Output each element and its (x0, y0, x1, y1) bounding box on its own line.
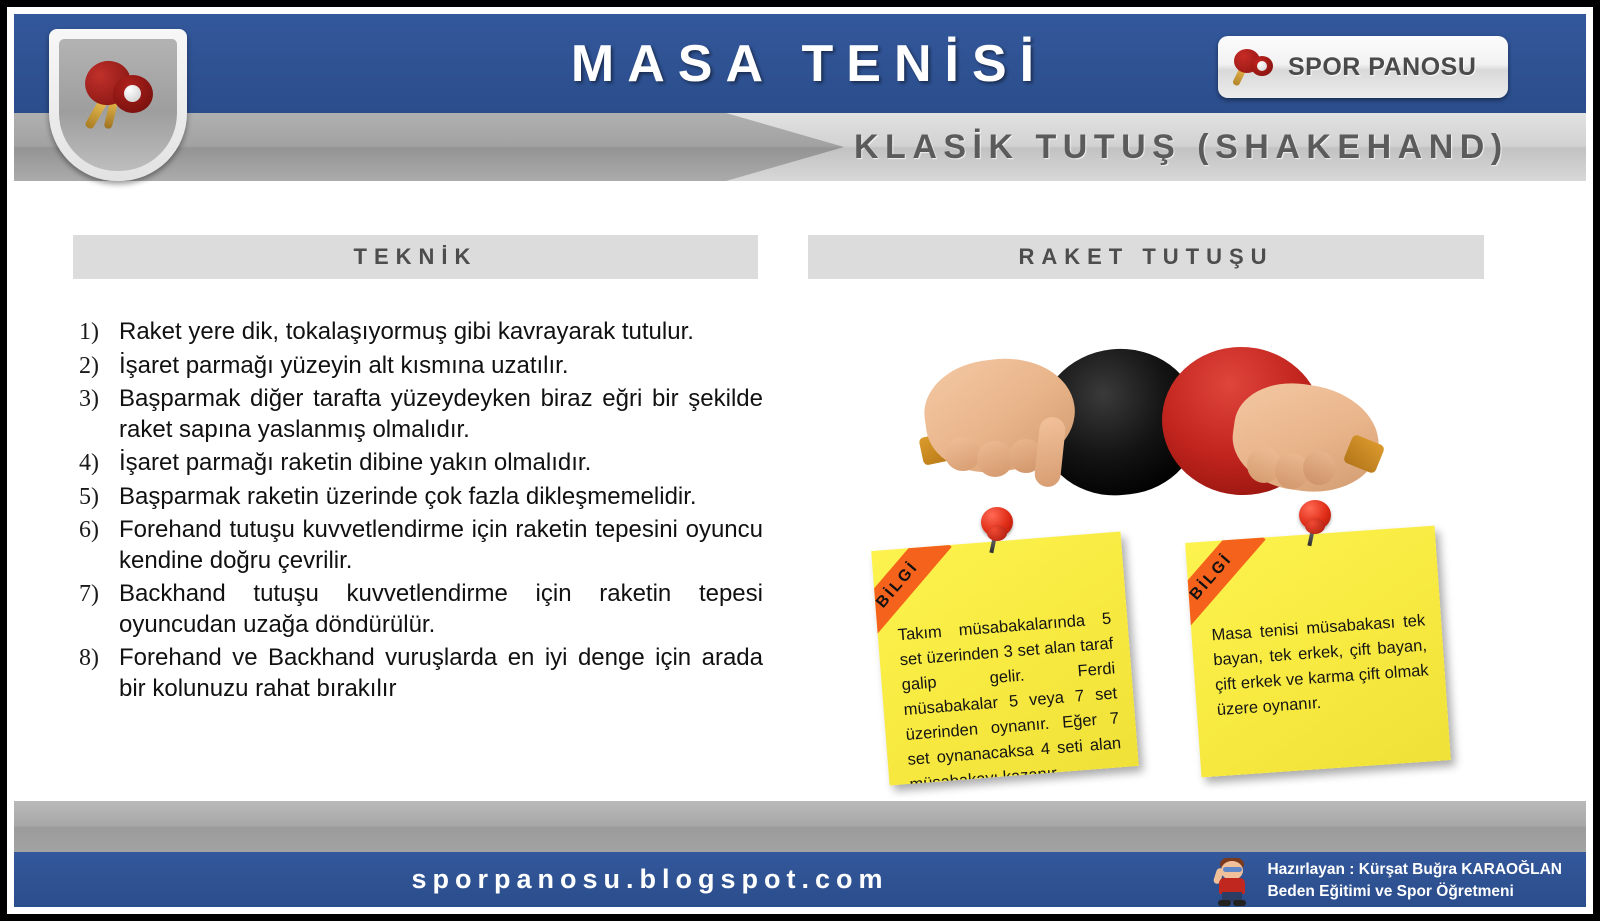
teacher-mascot-icon (1211, 856, 1255, 906)
list-item-text: Forehand ve Backhand vuruşlarda en iyi d… (119, 643, 763, 704)
table-tennis-paddle-icon (1234, 47, 1278, 87)
badge-label: SPOR PANOSU (1288, 53, 1476, 82)
note-text: Takım müsabakalarında 5 set üzerinden 3 … (897, 607, 1124, 786)
credits-block: Hazırlayan : Kürşat Buğra KARAOĞLAN Bede… (1211, 856, 1562, 906)
list-item-number: 3) (73, 384, 119, 445)
list-item-number: 2) (73, 351, 119, 382)
list-item-number: 7) (73, 579, 119, 640)
info-note: BİLGİ Takım müsabakalarında 5 set üzerin… (871, 532, 1139, 786)
footer-bar: sporpanosu.blogspot.com Hazırlayan : Kür… (14, 852, 1586, 907)
section-header-raket-tutusu: RAKET TUTUŞU (808, 235, 1484, 279)
right-hand-grip-icon (1219, 381, 1394, 511)
list-item-text: İşaret parmağı raketin dibine yakın olma… (119, 448, 763, 479)
list-item: 5) Başparmak raketin üzerinde çok fazla … (73, 482, 763, 513)
list-item-text: Forehand tutuşu kuvvetlendirme için rake… (119, 515, 763, 576)
credit-line-2: Beden Eğitimi ve Spor Öğretmeni (1267, 881, 1562, 903)
list-item: 2) İşaret parmağı yüzeyin alt kısmına uz… (73, 351, 763, 382)
list-item: 8) Forehand ve Backhand vuruşlarda en iy… (73, 643, 763, 704)
list-item-number: 8) (73, 643, 119, 704)
technique-list: 1) Raket yere dik, tokalaşıyormuş gibi k… (73, 317, 763, 707)
list-item-text: İşaret parmağı yüzeyin alt kısmına uzatı… (119, 351, 763, 382)
list-item-number: 4) (73, 448, 119, 479)
list-item-text: Backhand tutuşu kuvvetlendirme için rake… (119, 579, 763, 640)
ribbon-label: BİLGİ (1187, 551, 1237, 604)
list-item-text: Başparmak diğer tarafta yüzeydeyken bira… (119, 384, 763, 445)
list-item: 4) İşaret parmağı raketin dibine yakın o… (73, 448, 763, 479)
spor-panosu-badge[interactable]: SPOR PANOSU (1218, 36, 1508, 98)
list-item: 7) Backhand tutuşu kuvvetlendirme için r… (73, 579, 763, 640)
list-item-number: 1) (73, 317, 119, 348)
footer-gray-band (14, 801, 1586, 852)
list-item-text: Başparmak raketin üzerinde çok fazla dik… (119, 482, 763, 513)
note-text: Masa tenisi müsabakası tek bayan, tek er… (1211, 608, 1431, 723)
shield-paddles-logo-icon (49, 29, 187, 181)
list-item-number: 6) (73, 515, 119, 576)
list-item-text: Raket yere dik, tokalaşıyormuş gibi kavr… (119, 317, 763, 348)
list-item: 3) Başparmak diğer tarafta yüzeydeyken b… (73, 384, 763, 445)
subtitle-band: KLASİK TUTUŞ (SHAKEHAND) (14, 113, 1586, 181)
list-item: 6) Forehand tutuşu kuvvetlendirme için r… (73, 515, 763, 576)
shakehand-grip-illustration (919, 341, 1389, 521)
list-item-number: 5) (73, 482, 119, 513)
info-note: BİLGİ Masa tenisi müsabakası tek bayan, … (1185, 526, 1451, 778)
credit-line-1: Hazırlayan : Kürşat Buğra KARAOĞLAN (1267, 859, 1562, 881)
poster-canvas: MASA TENİSİ SPOR PANOSU KLASİK TUTUŞ (SH… (0, 0, 1600, 921)
left-hand-grip-icon (919, 359, 1079, 491)
header-bar: MASA TENİSİ SPOR PANOSU (14, 14, 1586, 113)
ribbon-label: BİLGİ (873, 558, 923, 612)
subtitle-text: KLASİK TUTUŞ (SHAKEHAND) (854, 113, 1576, 181)
section-header-teknik: TEKNİK (73, 235, 758, 279)
list-item: 1) Raket yere dik, tokalaşıyormuş gibi k… (73, 317, 763, 348)
